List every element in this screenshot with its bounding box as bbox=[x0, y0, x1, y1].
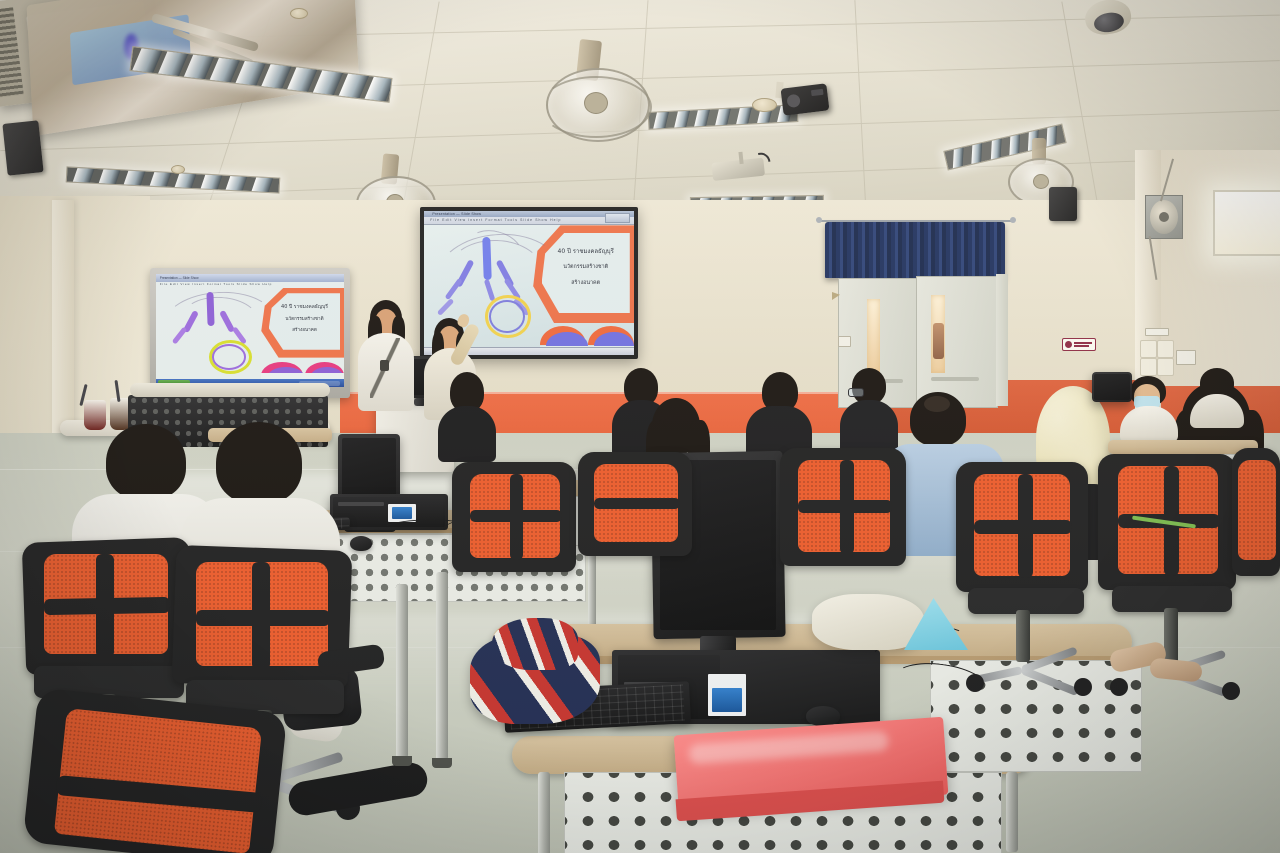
ceiling-fan-center bbox=[540, 42, 648, 138]
smoke-detector-1 bbox=[290, 8, 308, 19]
chair-mid-1[interactable] bbox=[452, 462, 580, 612]
window bbox=[1213, 190, 1280, 256]
pc-brand-badge-foreground bbox=[712, 688, 742, 712]
slide-blue-ring bbox=[489, 300, 525, 333]
smoke-detector-3 bbox=[171, 165, 185, 174]
attendee-front-center bbox=[438, 372, 496, 456]
attendee-glasses bbox=[848, 388, 864, 397]
door-sign bbox=[838, 336, 851, 347]
slide-tree-trunk bbox=[482, 237, 491, 280]
wall-flat-panel-screen: Presentation — Slide Show File Edit View… bbox=[156, 274, 344, 387]
door-right[interactable] bbox=[916, 276, 998, 408]
chair-mid-2[interactable] bbox=[578, 452, 696, 602]
panel-menu-text: File Edit View Insert Format Tools Slide… bbox=[160, 282, 272, 286]
projector-lens bbox=[786, 94, 800, 108]
panel-text-line-1: 40 ปี ราชมงคลธัญบุรี bbox=[269, 303, 340, 311]
chair-right-1[interactable] bbox=[956, 462, 1092, 692]
foreground-mouse[interactable] bbox=[806, 706, 840, 726]
smoke-detector-2 bbox=[752, 98, 777, 112]
door-right-vision-lite bbox=[931, 295, 945, 373]
presenter-badge bbox=[380, 360, 389, 371]
door-jamb bbox=[996, 274, 1008, 406]
window-valance bbox=[825, 222, 1005, 278]
ceiling-speaker-left bbox=[2, 120, 43, 175]
wall-notice-sign bbox=[1062, 338, 1096, 351]
projector-secondary bbox=[711, 149, 772, 185]
power-outlet-a[interactable] bbox=[1140, 340, 1157, 358]
presenter-standing bbox=[356, 300, 418, 428]
wall-speaker-right bbox=[1049, 187, 1077, 221]
desk-leg-left bbox=[396, 584, 408, 758]
slide-window-chrome: Presentation — Slide Show File Edit View… bbox=[424, 211, 634, 225]
striped-jacket bbox=[470, 618, 610, 728]
chair-mid-3[interactable] bbox=[780, 448, 910, 613]
person-beyond-door bbox=[933, 323, 944, 359]
slide-menu-bar: File Edit View Insert Format Tools Slide… bbox=[430, 218, 561, 222]
chair-right-edge[interactable] bbox=[1232, 448, 1280, 608]
outlet-label bbox=[1145, 328, 1169, 336]
sign-icon bbox=[1065, 341, 1072, 348]
attendee-bald-spot bbox=[924, 396, 950, 412]
exhaust-fan bbox=[1145, 195, 1183, 239]
rear-cabinet-top bbox=[130, 383, 330, 397]
power-outlet-b[interactable] bbox=[1157, 340, 1174, 358]
pc-brand-badge bbox=[392, 507, 412, 519]
desk-leg-left-2 bbox=[436, 572, 448, 760]
seminar-room-photo: Presentation — Slide Show File Edit View… bbox=[0, 0, 1280, 853]
curtain-rod bbox=[820, 220, 1014, 222]
panel-titlebar-text: Presentation — Slide Show bbox=[160, 276, 199, 280]
door-left-vision-lite bbox=[867, 299, 880, 373]
door-right-push-bar[interactable] bbox=[931, 377, 979, 381]
chair-foreground-bottom[interactable] bbox=[30, 700, 290, 853]
pc-sticker-label bbox=[708, 674, 746, 716]
attendee-far-right-back bbox=[1190, 368, 1244, 426]
panel-text-line-2: นวัตกรรมสร้างชาติ bbox=[269, 316, 340, 323]
power-outlet-d[interactable] bbox=[1157, 358, 1174, 376]
slide-titlebar-text: Presentation — Slide Show bbox=[432, 212, 481, 216]
power-outlet-c[interactable] bbox=[1140, 358, 1157, 376]
data-projector bbox=[781, 83, 830, 115]
light-switch-plate[interactable] bbox=[1176, 350, 1196, 365]
slide-window-buttons[interactable] bbox=[605, 213, 630, 223]
panel-text-line-3: สร้างอนาคต bbox=[269, 327, 340, 334]
ceiling bbox=[0, 0, 1280, 215]
